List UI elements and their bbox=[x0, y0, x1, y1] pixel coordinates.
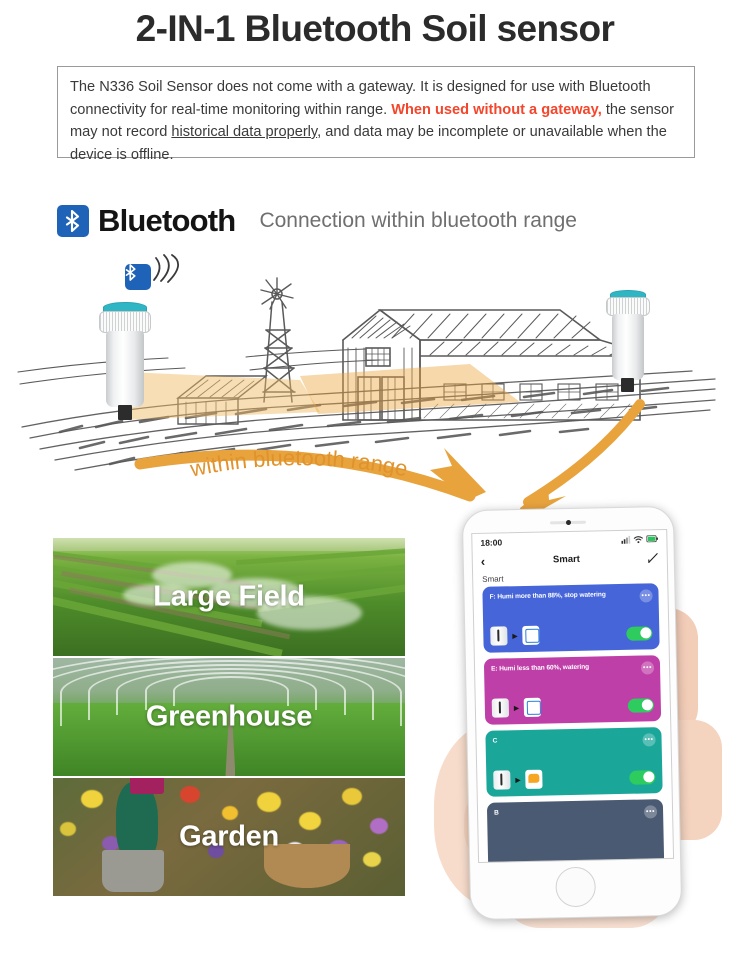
sensor-body bbox=[612, 314, 644, 380]
screen-title: Smart bbox=[553, 553, 580, 565]
soil-sensor-left bbox=[96, 302, 154, 422]
arrow-icon: ▶ bbox=[512, 632, 518, 640]
battery-icon bbox=[646, 535, 658, 542]
card-menu-button[interactable]: ••• bbox=[639, 589, 652, 602]
tile-caption: Greenhouse bbox=[53, 701, 405, 734]
soil-sensor-icon bbox=[492, 698, 509, 717]
edit-pencil-icon[interactable] bbox=[648, 552, 659, 563]
signal-icon bbox=[621, 535, 630, 543]
notice-box: The N336 Soil Sensor does not come with … bbox=[57, 66, 695, 158]
valve-icon bbox=[523, 626, 540, 645]
card-menu-button[interactable]: ••• bbox=[641, 661, 654, 674]
automation-card-list: F: Humi more than 88%, stop watering •••… bbox=[473, 583, 673, 863]
page-title: 2-IN-1 Bluetooth Soil sensor bbox=[0, 8, 750, 50]
card-toggle[interactable] bbox=[628, 698, 654, 713]
farm-scene: within bluetooth range bbox=[0, 252, 750, 512]
automation-card[interactable]: E: Humi less than 60%, watering ••• ▶ bbox=[484, 655, 661, 725]
valve-icon bbox=[524, 698, 541, 717]
card-menu-button[interactable]: ••• bbox=[644, 805, 657, 818]
tile-caption: Garden bbox=[53, 821, 405, 854]
smartphone: 18:00 bbox=[462, 506, 683, 920]
card-menu-button[interactable]: ••• bbox=[642, 733, 655, 746]
sensor-probe bbox=[621, 378, 634, 392]
card-toggle[interactable] bbox=[626, 626, 652, 641]
soil-sensor-right bbox=[604, 290, 652, 394]
status-time: 18:00 bbox=[480, 537, 502, 547]
arrow-icon: ▶ bbox=[514, 704, 520, 712]
range-beam bbox=[120, 364, 520, 420]
card-title: C bbox=[492, 733, 654, 745]
automation-card[interactable]: C ••• ▶ bbox=[485, 727, 662, 797]
arrow-icon: ▶ bbox=[515, 776, 521, 784]
card-title: B bbox=[494, 805, 656, 817]
tile-garden: Garden bbox=[53, 778, 405, 896]
tile-caption: Large Field bbox=[53, 581, 405, 614]
home-button[interactable] bbox=[555, 867, 596, 908]
card-devices: ▶ bbox=[492, 695, 654, 717]
notify-icon bbox=[526, 770, 543, 789]
bluetooth-glyph bbox=[65, 210, 81, 232]
back-button[interactable]: ‹ bbox=[481, 553, 486, 568]
automation-card[interactable]: B ••• bbox=[487, 799, 664, 863]
card-devices: ▶ bbox=[493, 767, 655, 789]
phone-screen: 18:00 bbox=[471, 529, 674, 863]
tile-greenhouse: Greenhouse bbox=[53, 658, 405, 776]
notice-text: The N336 Soil Sensor does not come with … bbox=[70, 76, 682, 166]
sensor-collar bbox=[99, 311, 151, 333]
wifi-icon bbox=[633, 535, 643, 543]
bluetooth-tagline: Connection within bluetooth range bbox=[259, 209, 577, 233]
card-devices: ▶ bbox=[490, 623, 652, 645]
notice-highlight: When used without a gateway, bbox=[391, 102, 602, 118]
bluetooth-glyph-small bbox=[125, 264, 137, 281]
status-icons bbox=[621, 535, 658, 544]
use-case-tiles: Large Field Greenhouse bbox=[53, 538, 405, 898]
soil-sensor-icon bbox=[490, 626, 507, 645]
card-title: E: Humi less than 60%, watering bbox=[491, 661, 653, 673]
bluetooth-icon bbox=[57, 205, 89, 237]
tile-large-field: Large Field bbox=[53, 538, 405, 656]
card-toggle[interactable] bbox=[629, 770, 655, 785]
automation-card[interactable]: F: Humi more than 88%, stop watering •••… bbox=[482, 583, 659, 653]
sensor-body bbox=[106, 331, 144, 407]
soil-sensor-icon bbox=[493, 770, 510, 789]
card-title: F: Humi more than 88%, stop watering bbox=[489, 589, 651, 601]
notice-underline: historical data properly bbox=[171, 124, 317, 140]
phone-camera bbox=[565, 520, 570, 525]
signal-waves-icon bbox=[148, 254, 188, 288]
bluetooth-row: Bluetooth Connection within bluetooth ra… bbox=[57, 198, 577, 244]
product-infographic: 2-IN-1 Bluetooth Soil sensor The N336 So… bbox=[0, 0, 750, 960]
sensor-probe bbox=[118, 405, 132, 420]
bluetooth-wordmark: Bluetooth bbox=[98, 203, 235, 239]
